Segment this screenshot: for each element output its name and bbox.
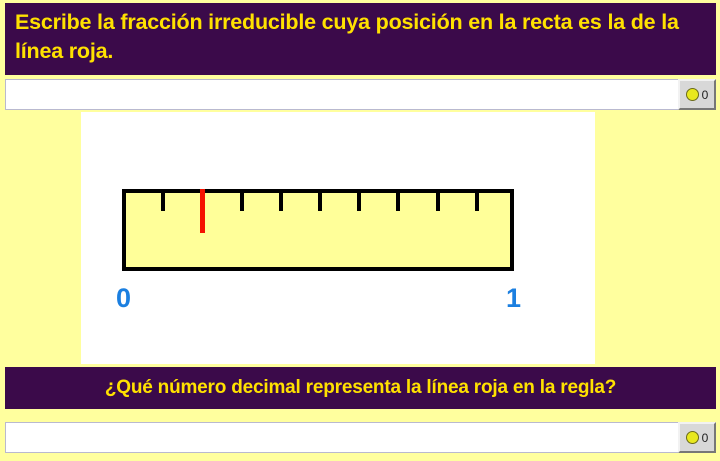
ruler-tick — [318, 193, 322, 211]
ruler-tick — [240, 193, 244, 211]
bottom-answer-row: 0 — [5, 422, 716, 453]
top-answer-row: 0 — [5, 79, 716, 110]
ruler-tick — [436, 193, 440, 211]
red-marker-line — [200, 189, 205, 233]
ruler-start-label: 0 — [116, 285, 131, 312]
ruler-end-label: 1 — [506, 285, 521, 312]
bottom-counter-button[interactable]: 0 — [678, 422, 716, 453]
ruler-tick — [279, 193, 283, 211]
ruler-tick — [475, 193, 479, 211]
ruler-tick — [396, 193, 400, 211]
top-counter-button[interactable]: 0 — [678, 79, 716, 110]
yellow-circle-icon — [686, 431, 699, 444]
top-question-text: Escribe la fracción irreducible cuya pos… — [5, 3, 716, 75]
ruler-stage: 0 1 — [81, 112, 595, 364]
bottom-question-text: ¿Qué número decimal representa la línea … — [5, 367, 716, 409]
ruler-diagram — [122, 189, 514, 271]
yellow-circle-icon — [686, 88, 699, 101]
top-counter-value: 0 — [702, 89, 709, 101]
ruler-tick — [161, 193, 165, 211]
ruler-tick — [357, 193, 361, 211]
fraction-answer-input[interactable] — [5, 79, 678, 110]
bottom-counter-value: 0 — [702, 432, 709, 444]
decimal-answer-input[interactable] — [5, 422, 678, 453]
